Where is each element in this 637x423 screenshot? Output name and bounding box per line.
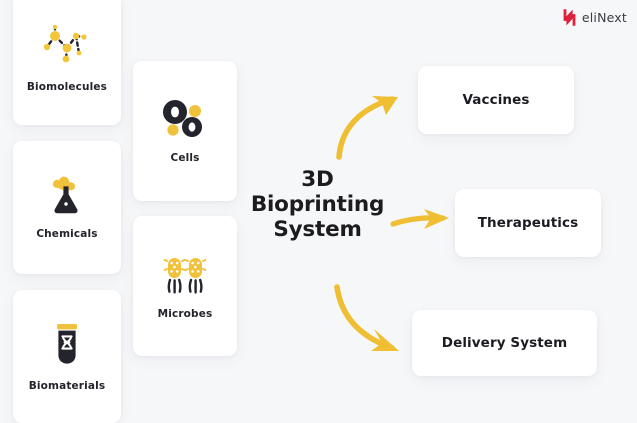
input-card-label: Biomaterials (29, 380, 106, 392)
logo-wordmark: eliNext (582, 10, 627, 25)
input-card-chemicals[interactable]: Chemicals (13, 141, 121, 274)
input-card-biomaterials[interactable]: Biomaterials (13, 290, 121, 423)
title-line-2: Bioprinting (240, 193, 395, 218)
input-card-cells[interactable]: Cells (133, 61, 237, 201)
infographic-canvas: eliNext Biomolecules (0, 0, 637, 422)
microbes-icon (160, 253, 210, 299)
straight-arrow-right-icon (393, 209, 449, 229)
input-card-label: Chemicals (36, 228, 97, 240)
test-tube-dna-icon (47, 321, 87, 371)
output-card-delivery-system[interactable]: Delivery System (412, 310, 597, 376)
output-card-label: Therapeutics (478, 215, 579, 231)
input-card-label: Microbes (158, 308, 213, 320)
molecule-icon (38, 24, 96, 72)
title-line-1: 3D (240, 168, 395, 193)
input-card-label: Biomolecules (27, 81, 107, 93)
brand-logo: eliNext (562, 8, 627, 27)
input-card-microbes[interactable]: Microbes (133, 216, 237, 356)
flask-icon (44, 175, 90, 219)
cells-icon (159, 99, 211, 143)
input-card-biomolecules[interactable]: Biomolecules (13, 0, 121, 125)
curved-arrow-down-icon (337, 287, 399, 351)
output-card-therapeutics[interactable]: Therapeutics (455, 189, 601, 257)
page-title: 3D Bioprinting System (240, 168, 395, 243)
title-line-3: System (240, 218, 395, 243)
output-card-vaccines[interactable]: Vaccines (418, 66, 574, 134)
output-card-label: Delivery System (442, 335, 567, 351)
input-card-label: Cells (170, 152, 199, 164)
output-card-label: Vaccines (462, 92, 529, 108)
curved-arrow-up-icon (339, 96, 398, 157)
elinext-n-mark-icon (562, 8, 577, 27)
